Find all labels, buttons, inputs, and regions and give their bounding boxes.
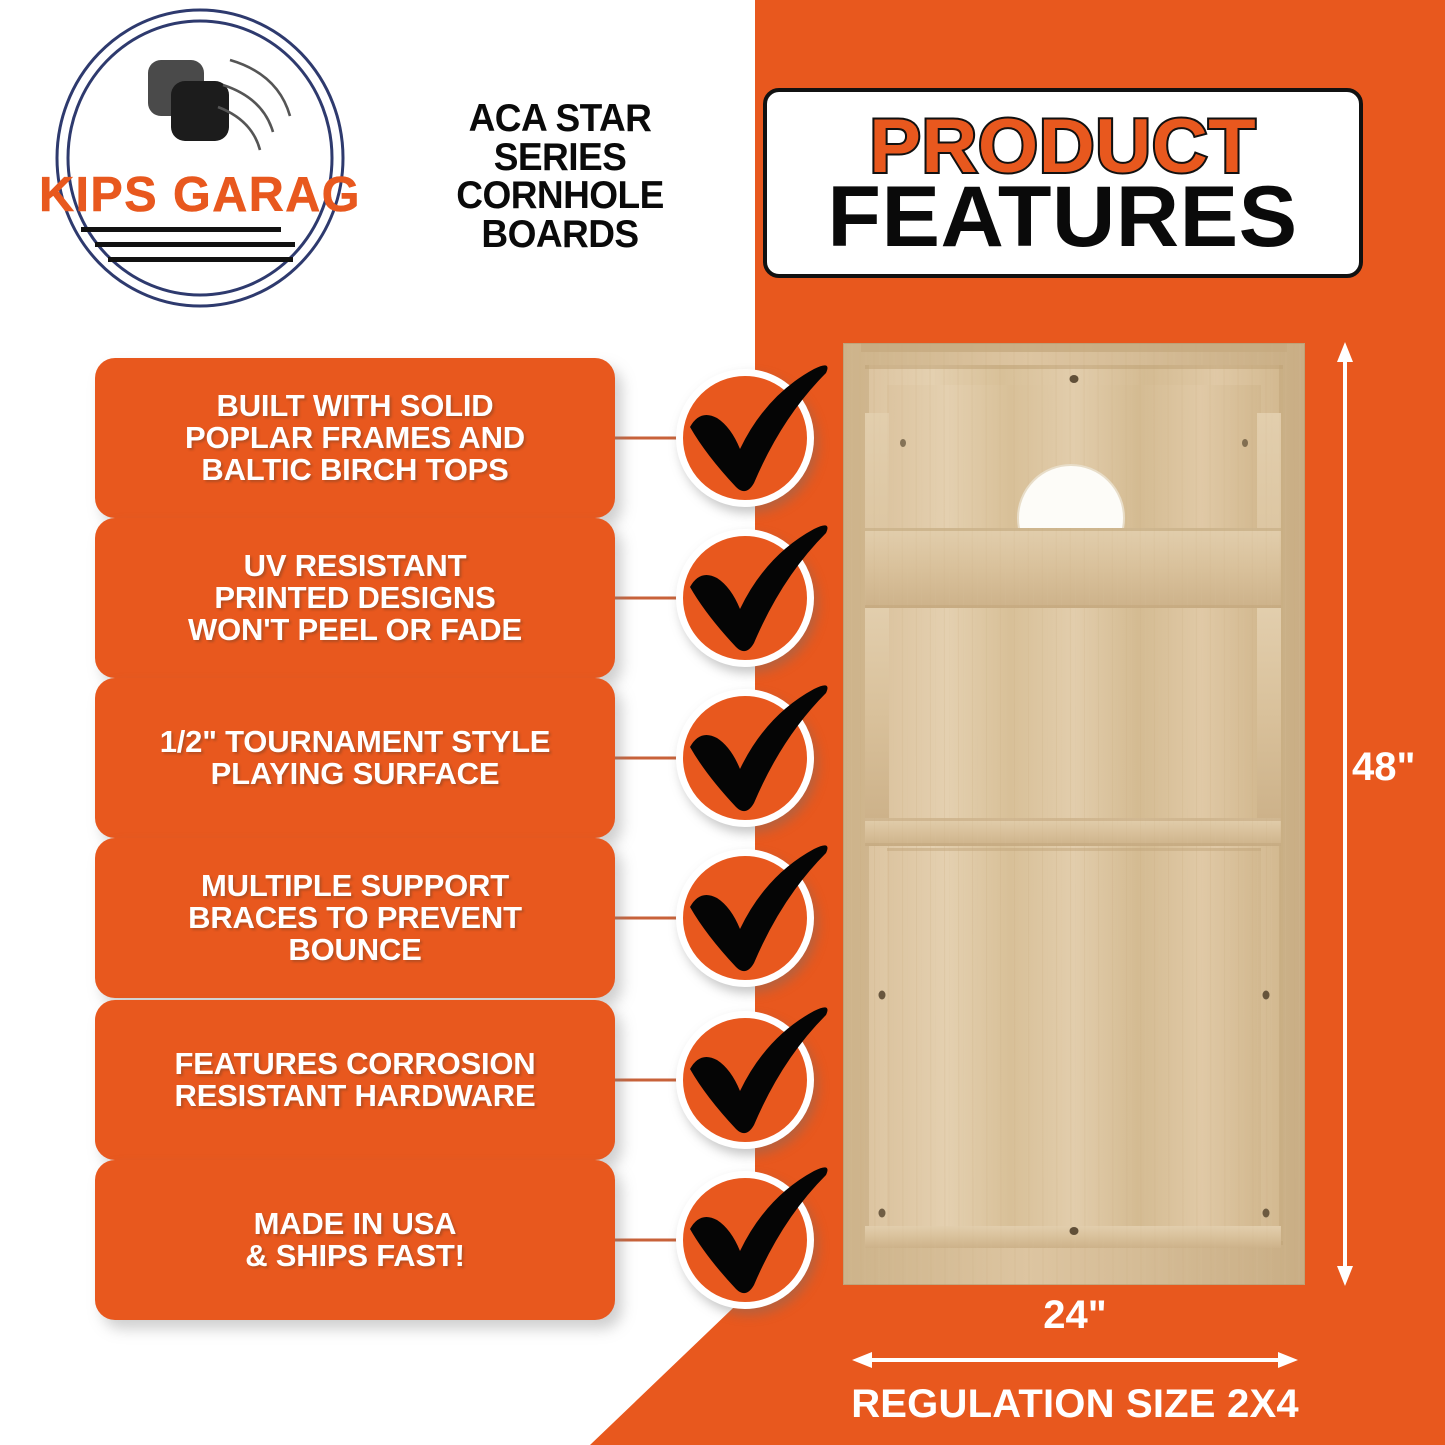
dimension-label-width: 24" bbox=[850, 1293, 1300, 1338]
feature-pill-2[interactable]: UV RESISTANT PRINTED DESIGNS WON'T PEEL … bbox=[95, 518, 615, 678]
title-line-1: ACA STAR bbox=[403, 100, 717, 139]
feature-pill-3[interactable]: 1/2" TOURNAMENT STYLE PLAYING SURFACE bbox=[95, 678, 615, 838]
feature-row-4: MULTIPLE SUPPORT BRACES TO PREVENT BOUNC… bbox=[0, 838, 830, 998]
feature-pill-4[interactable]: MULTIPLE SUPPORT BRACES TO PREVENT BOUNC… bbox=[95, 838, 615, 998]
title-line-2: SERIES bbox=[403, 139, 717, 178]
page-title: ACA STAR SERIES CORNHOLE BOARDS bbox=[403, 100, 717, 254]
check-icon-4 bbox=[676, 849, 814, 987]
check-glyph-5 bbox=[674, 989, 842, 1157]
feature-text-1: BUILT WITH SOLID POPLAR FRAMES AND BALTI… bbox=[185, 390, 525, 486]
check-icon-6 bbox=[676, 1171, 814, 1309]
feature-row-2: UV RESISTANT PRINTED DESIGNS WON'T PEEL … bbox=[0, 518, 830, 678]
check-glyph-3 bbox=[674, 667, 842, 835]
check-icon-5 bbox=[676, 1011, 814, 1149]
vertical-arrow-graphic bbox=[1325, 340, 1365, 1288]
cornhole-board-image bbox=[843, 343, 1305, 1285]
horizontal-arrow-graphic bbox=[850, 1348, 1300, 1372]
feature-text-6: MADE IN USA & SHIPS FAST! bbox=[245, 1208, 465, 1272]
regulation-size-note: REGULATION SIZE 2X4 bbox=[820, 1382, 1330, 1427]
brand-logo: SKIPS GARAGE bbox=[40, 8, 360, 308]
feature-text-4: MULTIPLE SUPPORT BRACES TO PREVENT BOUNC… bbox=[188, 870, 522, 966]
title-line-4: BOARDS bbox=[403, 216, 717, 255]
feature-text-2: UV RESISTANT PRINTED DESIGNS WON'T PEEL … bbox=[188, 550, 522, 646]
title-line-3: CORNHOLE bbox=[403, 177, 717, 216]
product-features-header: PRODUCT FEATURES bbox=[763, 88, 1363, 278]
feature-pill-6[interactable]: MADE IN USA & SHIPS FAST! bbox=[95, 1160, 615, 1320]
feature-row-6: MADE IN USA & SHIPS FAST! bbox=[0, 1160, 830, 1320]
svg-text:SKIPS GARAGE: SKIPS GARAGE bbox=[40, 168, 360, 222]
feature-pill-5[interactable]: FEATURES CORROSION RESISTANT HARDWARE bbox=[95, 1000, 615, 1160]
dimension-label-height: 48" bbox=[1352, 745, 1415, 790]
check-glyph-1 bbox=[674, 347, 842, 515]
check-icon-1 bbox=[676, 369, 814, 507]
check-glyph-6 bbox=[674, 1149, 842, 1317]
check-glyph-2 bbox=[674, 507, 842, 675]
dimension-arrow-height bbox=[1325, 340, 1365, 1288]
feature-row-5: FEATURES CORROSION RESISTANT HARDWARE bbox=[0, 1000, 830, 1160]
check-icon-3 bbox=[676, 689, 814, 827]
feature-row-1: BUILT WITH SOLID POPLAR FRAMES AND BALTI… bbox=[0, 358, 830, 518]
feature-text-5: FEATURES CORROSION RESISTANT HARDWARE bbox=[175, 1048, 536, 1112]
feature-pill-1[interactable]: BUILT WITH SOLID POPLAR FRAMES AND BALTI… bbox=[95, 358, 615, 518]
feature-text-3: 1/2" TOURNAMENT STYLE PLAYING SURFACE bbox=[160, 726, 551, 790]
dimension-arrow-width bbox=[850, 1348, 1300, 1372]
board-graphic bbox=[843, 343, 1305, 1285]
header-line-features: FEATURES bbox=[828, 178, 1298, 257]
check-glyph-4 bbox=[674, 827, 842, 995]
feature-row-3: 1/2" TOURNAMENT STYLE PLAYING SURFACE bbox=[0, 678, 830, 838]
check-icon-2 bbox=[676, 529, 814, 667]
logo-graphic: SKIPS GARAGE bbox=[40, 8, 360, 308]
